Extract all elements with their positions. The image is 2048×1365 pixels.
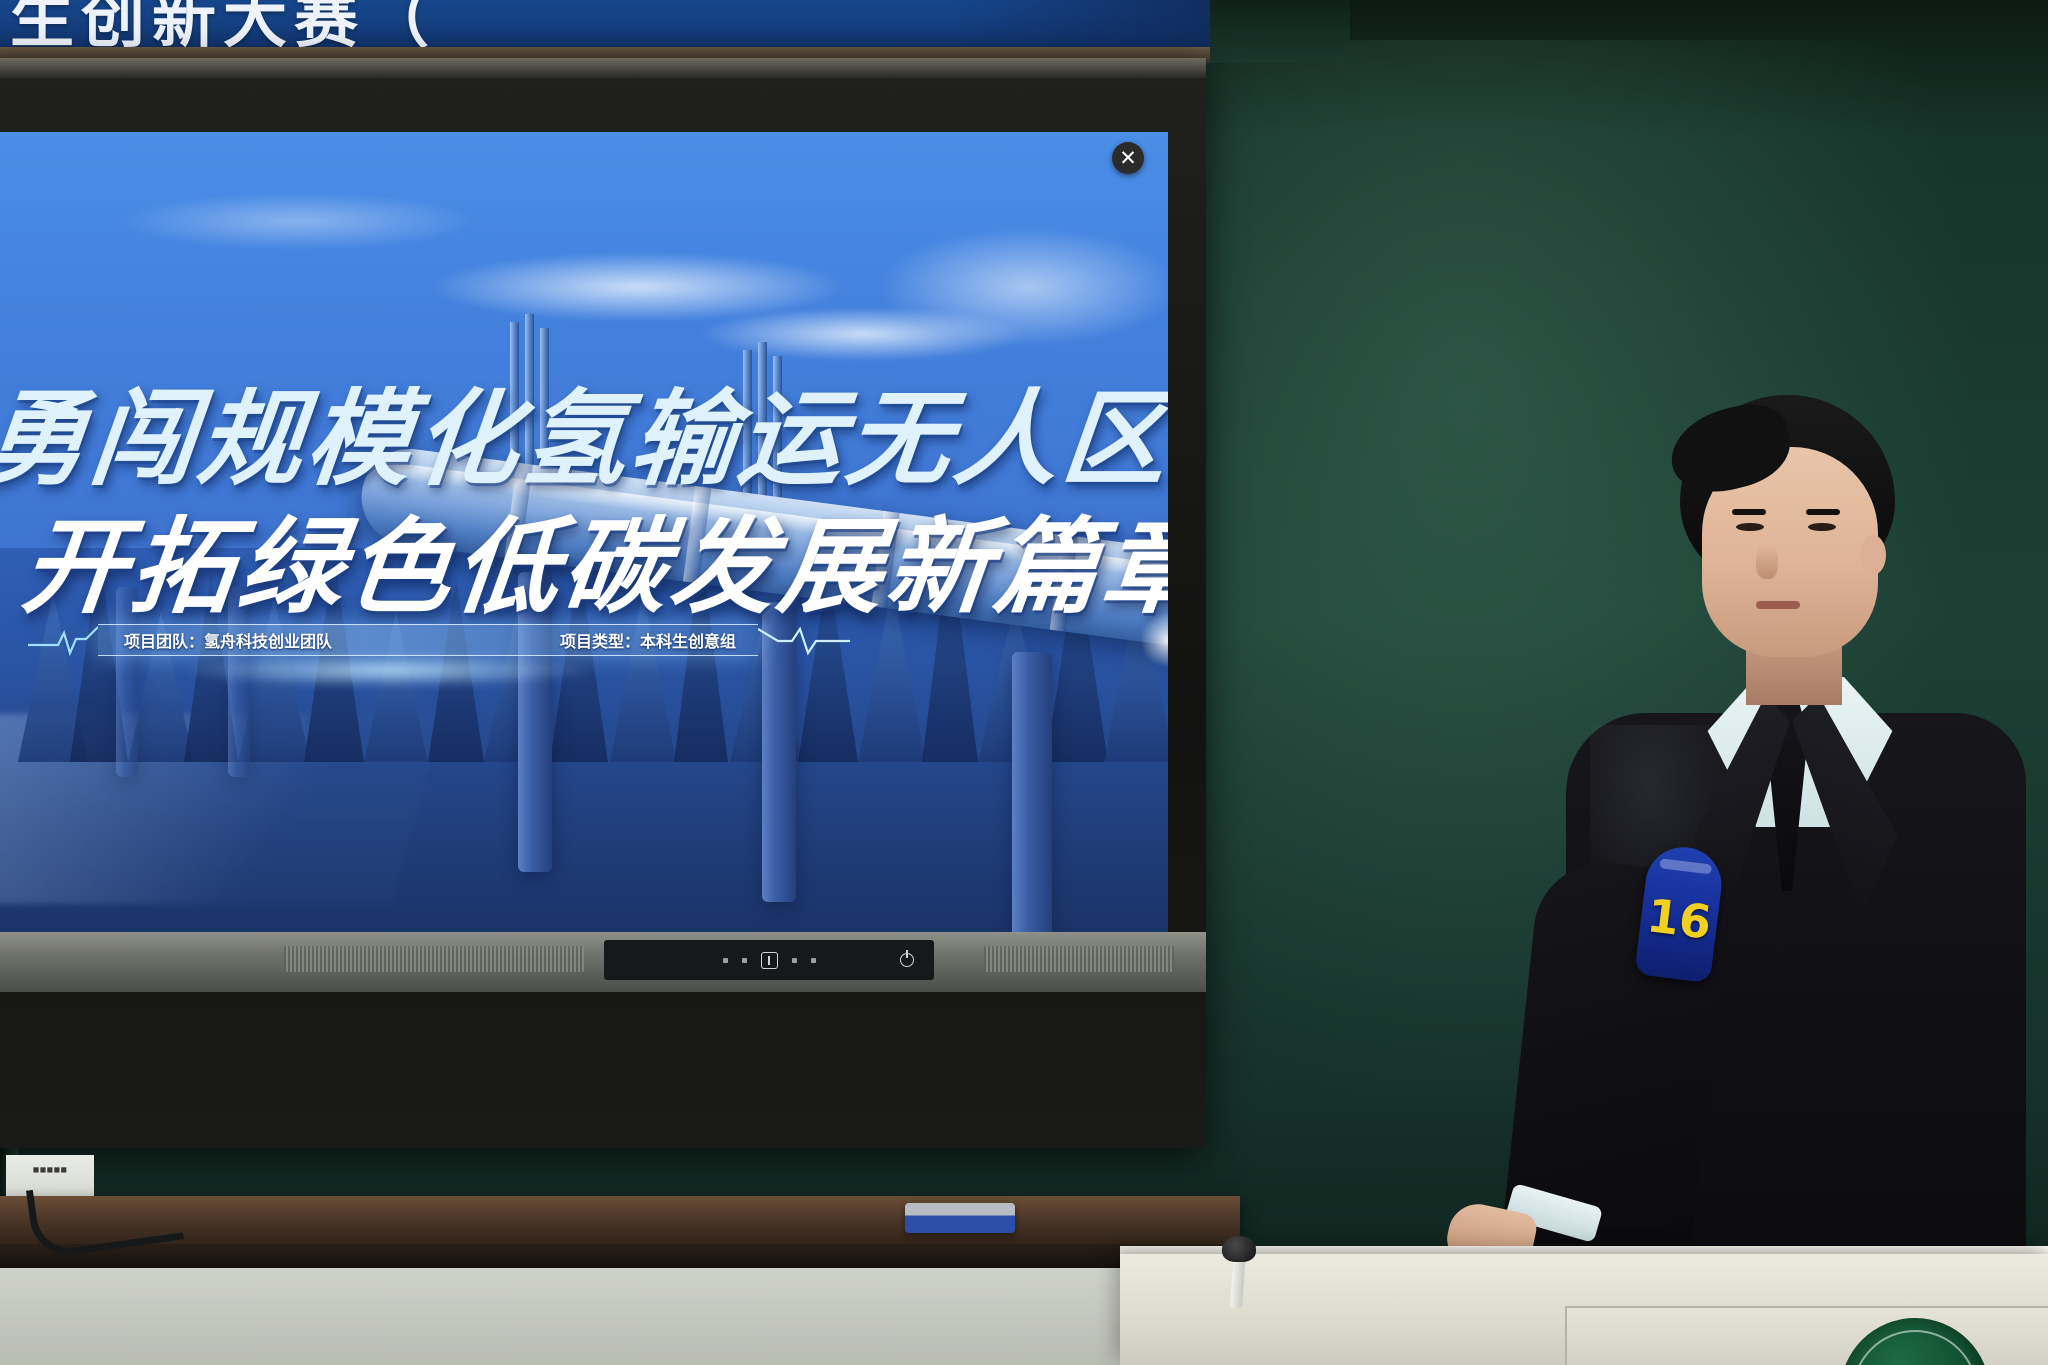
project-type-value: 本科生创意组 (640, 632, 736, 651)
badge-clip (1659, 858, 1712, 874)
board-eraser[interactable] (905, 1203, 1015, 1233)
screenshot-stage: 生创新大赛（ (0, 0, 2048, 1365)
project-type-label: 项目类型：本科生创意组 (560, 628, 736, 652)
slide-title-block: 勇闯规模化氢输运无人区 开拓绿色低碳发展新篇章 (0, 132, 1168, 932)
ear (1860, 535, 1886, 575)
project-team-label-text: 项目团队： (124, 632, 204, 651)
menu-dot-icon[interactable] (792, 958, 797, 963)
infobar-glow (178, 652, 598, 688)
pulse-line-icon (758, 623, 850, 659)
eyebrow-right (1806, 509, 1840, 515)
home-button-icon[interactable] (761, 952, 778, 969)
speaker-grille (284, 946, 584, 972)
project-team-value: 氢舟科技创业团队 (204, 632, 332, 651)
display-screen[interactable]: 勇闯规模化氢输运无人区 开拓绿色低碳发展新篇章 项目团队：氢舟科技创业团队 项目… (0, 132, 1168, 932)
event-banner-text: 生创新大赛（ (10, 0, 436, 47)
slide-info-bar: 项目团队：氢舟科技创业团队 项目类型：本科生创意组 (98, 624, 758, 656)
pulse-line-icon (28, 623, 98, 659)
menu-dot-icon[interactable] (742, 958, 747, 963)
menu-dot-icon[interactable] (811, 958, 816, 963)
interactive-display: 勇闯规模化氢输运无人区 开拓绿色低碳发展新篇章 项目团队：氢舟科技创业团队 项目… (0, 58, 1206, 1148)
badge-number: 16 (1644, 888, 1714, 949)
board-tray (0, 1196, 1240, 1244)
event-banner: 生创新大赛（ (0, 0, 1210, 47)
speaker-grille (984, 946, 1174, 972)
nose (1756, 545, 1778, 579)
microphone-head (1222, 1236, 1256, 1262)
display-bottom-bezel (0, 932, 1206, 992)
banner-wall-gap (1210, 0, 1350, 63)
display-top-bezel (0, 58, 1206, 78)
eyebrow-left (1732, 509, 1766, 515)
project-team-label: 项目团队：氢舟科技创业团队 (124, 628, 332, 652)
close-icon[interactable]: ✕ (1112, 142, 1144, 174)
mouth (1756, 601, 1800, 609)
presenter: 16 (1560, 395, 2030, 1275)
banner-shadow (950, 0, 1210, 47)
eye-right (1808, 523, 1836, 531)
project-type-label-text: 项目类型： (560, 632, 640, 651)
eye-left (1736, 523, 1764, 531)
power-button-icon[interactable] (900, 953, 914, 967)
slide-title-line-2: 开拓绿色低碳发展新篇章 (16, 482, 1168, 633)
menu-dot-icon[interactable] (723, 958, 728, 963)
board-tray-shadow (0, 1244, 1240, 1270)
display-control-bar[interactable] (604, 940, 934, 980)
lower-wall (0, 1268, 1240, 1365)
